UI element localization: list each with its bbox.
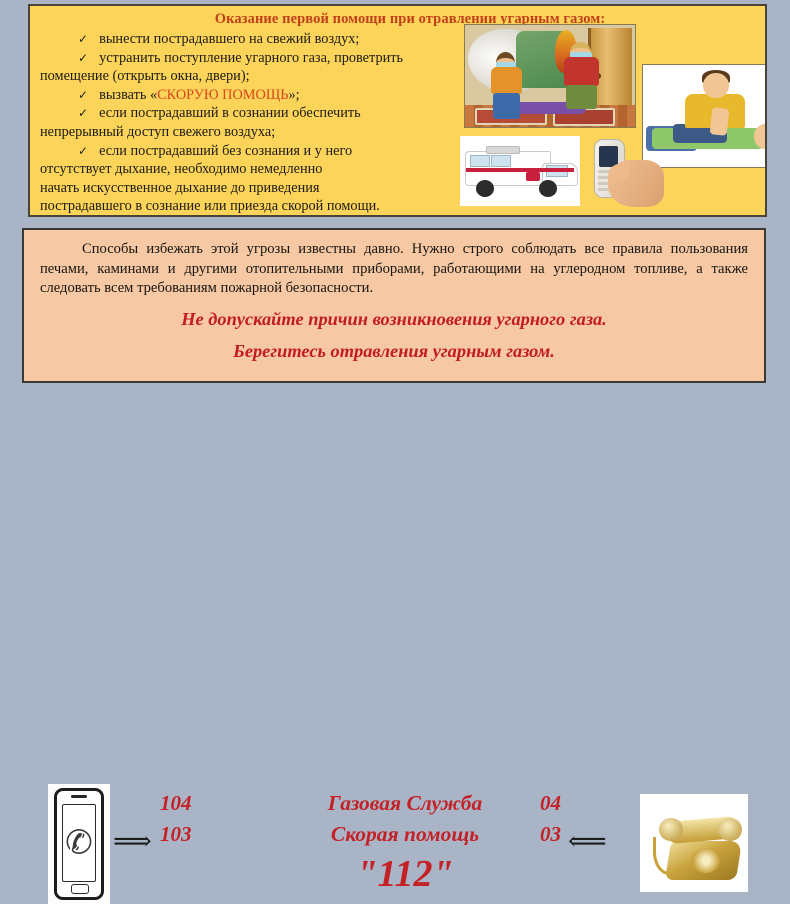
prevention-slogan-line-1: Не допускайте причин возникновения угарн… [40,308,748,331]
list-item-label: если пострадавший в сознании обеспечить [99,105,361,121]
highlight-call-ambulance: СКОРУЮ ПОМОЩЬ [157,87,288,103]
list-item: ✓вынести пострадавшего на свежий воздух; [40,30,452,49]
list-item-continuation: помещение (открыть окна, двери); [40,67,452,86]
list-item-label-after: »; [288,87,299,103]
rescue-from-smoke-room-illustration [464,24,636,128]
first-aid-instruction-list: ✓вынести пострадавшего на свежий воздух;… [40,30,452,216]
prevention-panel: Способы избежать этой угрозы известны да… [22,228,766,383]
first-aid-panel: Оказание первой помощи при отравлении уг… [28,4,767,217]
list-item-label: помещение (открыть окна, двери); [40,68,250,84]
ambulance-cross-icon [526,172,540,181]
ambulance-red-stripe [466,168,574,173]
list-item-continuation: пострадавшего в сознание или приезда ско… [40,197,452,216]
check-icon: ✓ [40,88,99,102]
rescuer-person [487,52,526,119]
list-item-continuation: непрерывный доступ свежего воздуха; [40,123,452,142]
smartphone-frame: ✆ [54,788,104,900]
ambulance-window [470,155,490,167]
torso [564,57,600,86]
list-item-label: отсутствует дыхание, необходимо немедлен… [40,161,322,177]
telephone-rotary-dial [692,848,720,873]
legs [493,93,520,119]
list-item-label: начать искусственное дыхание до приведен… [40,180,320,196]
hand-holding-mobile-phone-photo [582,134,667,210]
check-icon: ✓ [40,106,99,120]
list-item: ✓устранить поступление угарного газа, пр… [40,49,452,68]
rescuer-arms [709,107,728,135]
service-gas-service: Газовая Служба [290,788,520,819]
ambulance-lightbar [486,146,519,154]
list-item-label: пострадавшего в сознание или приезда ско… [40,198,380,214]
list-item-label: если пострадавший без сознания и у него [99,143,352,159]
torso [491,67,522,94]
arrow-right-icon: ⟹ [113,828,152,855]
emergency-numbers-section: ✆ ⟹ 104 103 Газовая Служба Скорая помощь… [0,388,790,526]
ambulance-wheel [539,180,557,197]
telephone-earpiece [659,818,683,842]
service-ambulance: Скорая помощь [290,819,520,850]
list-item-label-before: вызвать « [99,87,157,103]
phone-handset-icon: ✆ [65,828,93,861]
rescuer-head [703,73,729,97]
list-item: ✓если пострадавший без сознания и у него [40,142,452,161]
list-item-continuation: отсутствует дыхание, необходимо немедлен… [40,160,452,179]
check-icon: ✓ [40,144,99,158]
ambulance-wheel [476,180,494,197]
left-numbers-column: 104 103 [160,788,230,850]
emergency-number-04: 04 [540,788,590,819]
list-item: ✓если пострадавший в сознании обеспечить [40,104,452,123]
ambulance-window [491,155,511,167]
list-item-label: устранить поступление угарного газа, про… [99,50,403,66]
emergency-number-112: "112" [290,852,520,896]
arrow-left-icon: ⟸ [568,828,607,855]
smartphone-home-button [71,884,89,894]
smartphone-icon: ✆ [48,784,110,904]
gold-rotary-telephone-photo [640,794,748,892]
smartphone-speaker [71,795,87,798]
list-item-call-ambulance: ✓вызвать «СКОРУЮ ПОМОЩЬ»; [40,86,452,105]
list-item-continuation: начать искусственное дыхание до приведен… [40,179,452,198]
services-column: Газовая Служба Скорая помощь [290,788,520,850]
prevention-slogan-line-2: Берегитесь отравления угарным газом. [40,340,748,363]
check-icon: ✓ [40,51,99,65]
telephone-mouthpiece [718,818,742,842]
list-item-label: вынести пострадавшего на свежий воздух; [99,31,359,47]
prevention-body-text: Способы избежать этой угрозы известны да… [40,240,748,299]
ambulance-photo [460,136,580,206]
victim-head [754,124,767,148]
check-icon: ✓ [40,32,99,46]
list-item-label: непрерывный доступ свежего воздуха; [40,124,275,140]
emergency-number-104: 104 [160,788,230,819]
rescuer-person [560,42,603,113]
emergency-number-103: 103 [160,819,230,850]
legs [566,85,597,109]
